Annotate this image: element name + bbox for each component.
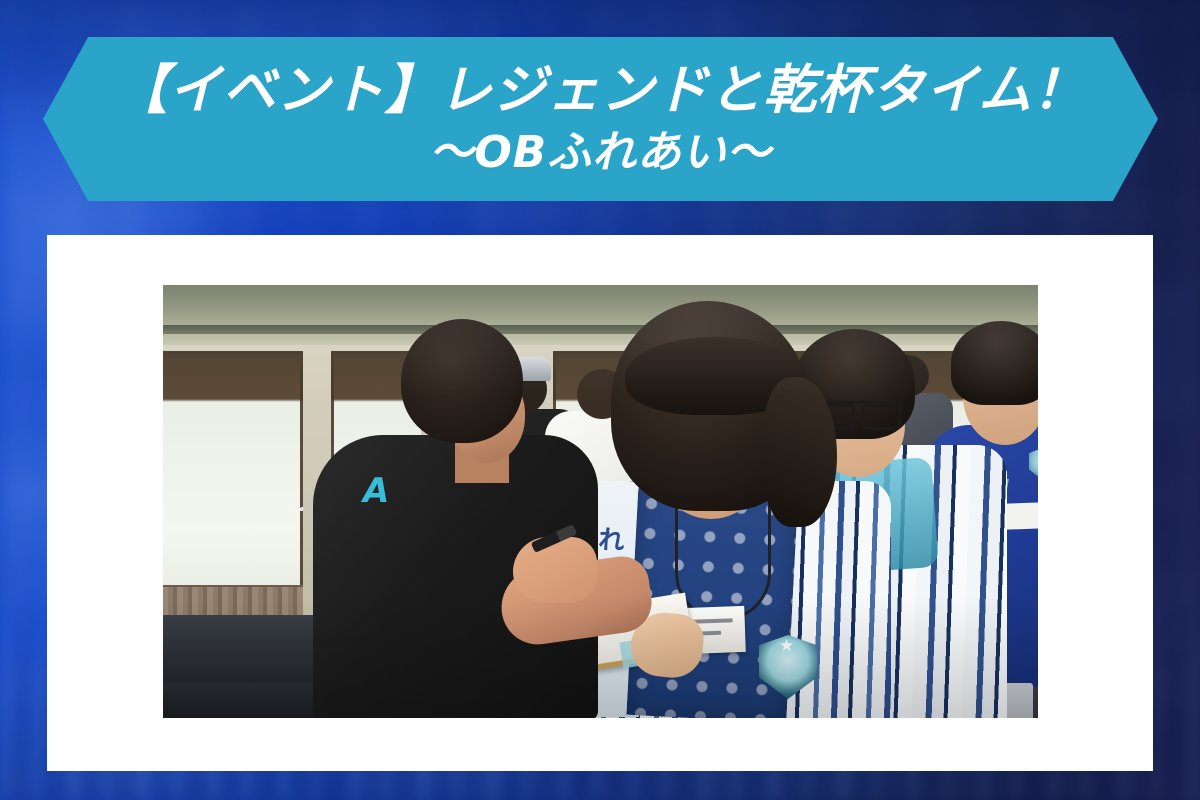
star-icon: ★ xyxy=(779,637,794,654)
title-line-secondary: ～OBふれあい～ xyxy=(430,131,772,175)
title-line-primary: 【イベント】レジェンドと乾杯タイム！ xyxy=(114,64,1086,117)
photo-ob-hair xyxy=(401,319,523,443)
title-banner: 【イベント】レジェンドと乾杯タイム！ ～OBふれあい～ xyxy=(43,37,1158,201)
photo-window-truss xyxy=(163,391,303,511)
banner-page: 【イベント】レジェンドと乾杯タイム！ ～OBふれあい～ xyxy=(0,0,1200,800)
photo-ob-hand xyxy=(513,537,597,603)
event-photo: 11 ふれあ ★ A xyxy=(163,285,1038,718)
photo-jersey-man-hair xyxy=(951,321,1038,405)
photo-ceiling xyxy=(163,285,1038,345)
photo-tshirt-logo-icon: A xyxy=(363,471,409,511)
photo-ceiling-beam xyxy=(163,325,1038,334)
